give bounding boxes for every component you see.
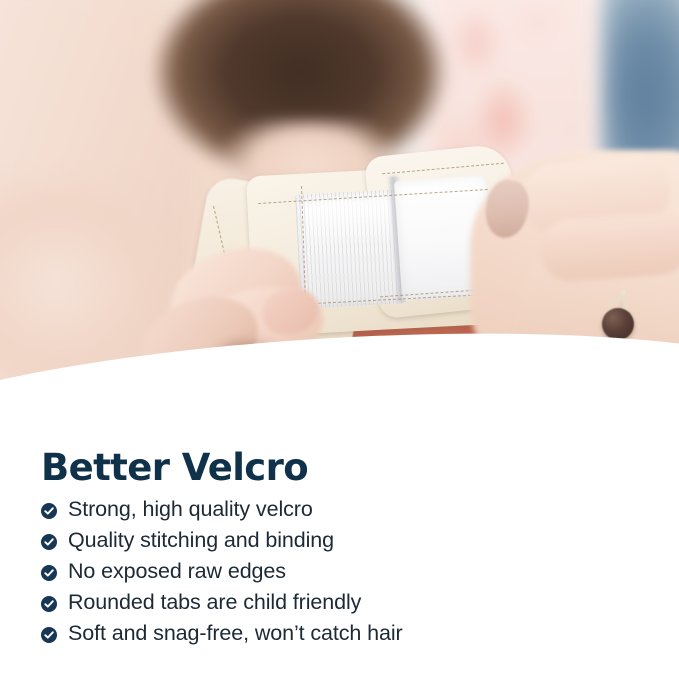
list-item-label: Soft and snag-free, won’t catch hair: [68, 621, 403, 646]
list-item: Soft and snag-free, won’t catch hair: [41, 618, 403, 649]
list-item-label: Strong, high quality velcro: [68, 497, 313, 522]
list-item-label: No exposed raw edges: [68, 559, 286, 584]
check-circle-icon: [41, 503, 57, 519]
feature-list: Strong, high quality velcro Quality stit…: [41, 494, 403, 649]
check-circle-icon: [41, 596, 57, 612]
check-circle-icon: [41, 534, 57, 550]
product-feature-card: Better Velcro Strong, high quality velcr…: [0, 0, 679, 679]
check-circle-icon: [41, 565, 57, 581]
check-circle-icon: [41, 627, 57, 643]
list-item: Strong, high quality velcro: [41, 494, 403, 525]
adult-right-hand-finger-2: [538, 211, 679, 283]
list-item: Quality stitching and binding: [41, 525, 403, 556]
list-item-label: Quality stitching and binding: [68, 528, 334, 553]
feature-text-panel: Better Velcro Strong, high quality velcr…: [0, 428, 679, 679]
velcro-highlight: [305, 197, 396, 249]
list-item: Rounded tabs are child friendly: [41, 587, 403, 618]
list-item: No exposed raw edges: [41, 556, 403, 587]
hanging-bead: [602, 308, 634, 340]
page-title: Better Velcro: [41, 446, 308, 489]
list-item-label: Rounded tabs are child friendly: [68, 590, 361, 615]
